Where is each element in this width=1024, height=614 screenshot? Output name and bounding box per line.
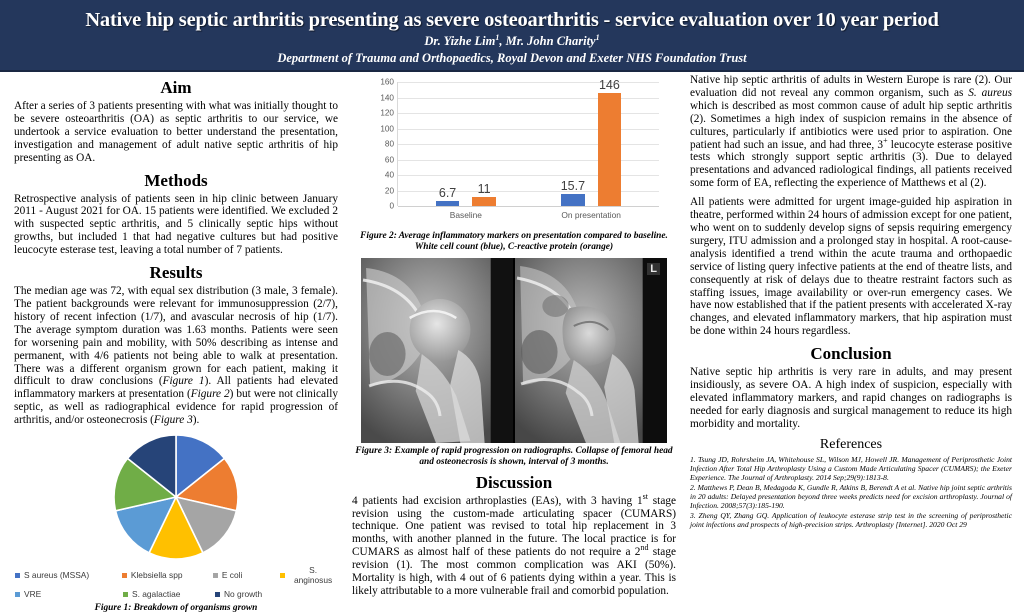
discussion-text-part1: 4 patients had excision arthroplasties (… xyxy=(352,495,643,507)
poster-affiliation: Department of Trauma and Orthopaedics, R… xyxy=(10,50,1014,66)
pie-legend: S aureus (MSSA) Klebsiella spp E coli S.… xyxy=(15,565,337,599)
radiograph-left xyxy=(361,258,513,443)
bar-baseline-c-reactive-protein: 11 xyxy=(472,197,495,206)
figure2-bar-chart: 020406080100120140160 6.71115.7146 Basel… xyxy=(363,76,665,228)
bar-value-label: 6.7 xyxy=(439,186,456,200)
legend-label-s-aureus: S aureus (MSSA) xyxy=(24,570,89,580)
y-axis-label-100: 100 xyxy=(380,124,394,133)
author-two-affiliation-marker: 1 xyxy=(596,33,600,42)
reference-item-3: 3. Zheng QY, Zhang GQ. Application of le… xyxy=(690,511,1012,529)
figure3-caption-line2: and osteonecrosis is shown, interval of … xyxy=(352,457,676,468)
y-axis-label-80: 80 xyxy=(385,140,394,149)
y-axis-label-20: 20 xyxy=(385,186,394,195)
bar-on-presentation-c-reactive-protein: 146 xyxy=(598,93,621,206)
y-axis-label-40: 40 xyxy=(385,171,394,180)
radiograph-right-laterality-marker: L xyxy=(647,263,660,275)
figure3-caption-line1: Figure 3: Example of rapid progression o… xyxy=(352,446,676,457)
legend-label-vre: VRE xyxy=(24,589,41,599)
results-heading: Results xyxy=(14,263,338,282)
right-column: Native hip septic arthritis of adults in… xyxy=(682,74,1016,576)
aim-text: After a series of 3 patients presenting … xyxy=(14,100,338,165)
figure1-reference: Figure 1 xyxy=(163,375,205,387)
pie-legend-row-2: VRE S. agalactiae No growth xyxy=(15,589,337,599)
service-delay-paragraph: All patients were admitted for urgent im… xyxy=(690,196,1012,338)
organism-name-s-aureus: S. aureus xyxy=(968,87,1012,99)
poster-authors: Dr. Yizhe Lim1, Mr. John Charity1 xyxy=(10,34,1014,49)
legend-item-vre: VRE xyxy=(15,589,123,599)
discussion-heading: Discussion xyxy=(352,473,676,492)
bar-baseline-white-cell-count: 6.7 xyxy=(436,201,459,206)
bar-value-label: 146 xyxy=(599,78,620,92)
discussion-text: 4 patients had excision arthroplasties (… xyxy=(352,495,676,598)
figure2-caption-line1: Figure 2: Average inflammatory markers o… xyxy=(352,231,676,242)
x-axis-label-baseline: Baseline xyxy=(450,210,482,220)
x-axis-label-on-presentation: On presentation xyxy=(561,210,621,220)
results-text-part4: ). xyxy=(193,414,200,426)
results-text: The median age was 72, with equal sex di… xyxy=(14,285,338,427)
discussion-background-paragraph: Native hip septic arthritis of adults in… xyxy=(690,74,1012,190)
poster-columns: Aim After a series of 3 patients present… xyxy=(0,72,1024,576)
author-one: Dr. Yizhe Lim xyxy=(424,34,495,48)
figure2-caption: Figure 2: Average inflammatory markers o… xyxy=(352,231,676,254)
author-two: , Mr. John Charity xyxy=(499,34,595,48)
pie-graphic xyxy=(112,433,240,561)
legend-swatch-no-growth xyxy=(215,592,220,597)
legend-label-s-agalactiae: S. agalactiae xyxy=(132,589,180,599)
legend-swatch-s-aureus xyxy=(15,573,20,578)
y-axis-label-140: 140 xyxy=(380,93,394,102)
left-column: Aim After a series of 3 patients present… xyxy=(8,74,346,576)
legend-item-s-agalactiae: S. agalactiae xyxy=(123,589,215,599)
radiograph-right: L xyxy=(515,258,667,443)
methods-heading: Methods xyxy=(14,171,338,190)
legend-swatch-e-coli xyxy=(213,573,218,578)
figure3-caption: Figure 3: Example of rapid progression o… xyxy=(352,446,676,469)
legend-swatch-s-agalactiae xyxy=(123,592,128,597)
references-list: 1. Tsung JD, Rohrsheim JA, Whitehouse SL… xyxy=(690,455,1012,529)
bar-chart-plot: 020406080100120140160 6.71115.7146 Basel… xyxy=(397,82,659,206)
references-heading: References xyxy=(690,437,1012,453)
results-text-part1: The median age was 72, with equal sex di… xyxy=(14,285,338,387)
legend-label-s-anginosus: S. anginosus xyxy=(289,565,337,585)
radiograph-left-image xyxy=(361,258,513,443)
bar-value-label: 11 xyxy=(478,182,491,196)
methods-text: Retrospective analysis of patients seen … xyxy=(14,193,338,258)
y-axis-label-120: 120 xyxy=(380,109,394,118)
poster-title: Native hip septic arthritis presenting a… xyxy=(10,7,1014,33)
legend-label-no-growth: No growth xyxy=(224,589,262,599)
bar-value-label: 15.7 xyxy=(561,179,585,193)
legend-swatch-s-anginosus xyxy=(280,573,285,578)
figure1-pie-chart: S aureus (MSSA) Klebsiella spp E coli S.… xyxy=(14,433,338,614)
y-axis-label-60: 60 xyxy=(385,155,394,164)
legend-label-klebsiella: Klebsiella spp xyxy=(131,570,183,580)
gridline-0 xyxy=(398,206,659,207)
poster-header: Native hip septic arthritis presenting a… xyxy=(0,0,1024,72)
legend-item-no-growth: No growth xyxy=(215,589,283,599)
y-axis-label-160: 160 xyxy=(380,78,394,87)
y-axis-label-0: 0 xyxy=(389,202,394,211)
legend-item-e-coli: E coli xyxy=(213,565,280,585)
figure2-reference: Figure 2 xyxy=(191,388,230,400)
figure3-radiographs: L xyxy=(361,258,667,443)
legend-swatch-vre xyxy=(15,592,20,597)
reference-item-2: 2. Matthews P, Dean B, Medagoda K, Gundl… xyxy=(690,483,1012,510)
legend-item-klebsiella: Klebsiella spp xyxy=(122,565,213,585)
figure2-caption-line2: White cell count (blue), C-reactive prot… xyxy=(352,242,676,253)
aim-heading: Aim xyxy=(14,78,338,97)
pie-legend-row-1: S aureus (MSSA) Klebsiella spp E coli S.… xyxy=(15,565,337,585)
figure1-caption: Figure 1: Breakdown of organisms grown xyxy=(14,603,338,614)
radiograph-right-image xyxy=(515,258,667,443)
pie-svg xyxy=(112,433,240,561)
reference-item-1: 1. Tsung JD, Rohrsheim JA, Whitehouse SL… xyxy=(690,455,1012,482)
background-part1: Native hip septic arthritis of adults in… xyxy=(690,74,1012,99)
legend-swatch-klebsiella xyxy=(122,573,127,578)
conclusion-heading: Conclusion xyxy=(690,344,1012,363)
middle-column: 020406080100120140160 6.71115.7146 Basel… xyxy=(346,74,682,576)
conclusion-text: Native septic hip arthritis is very rare… xyxy=(690,366,1012,431)
legend-item-s-aureus: S aureus (MSSA) xyxy=(15,565,122,585)
legend-label-e-coli: E coli xyxy=(222,570,242,580)
figure3-reference: Figure 3 xyxy=(154,414,193,426)
legend-item-s-anginosus: S. anginosus xyxy=(280,565,337,585)
bar-on-presentation-white-cell-count: 15.7 xyxy=(561,194,584,206)
